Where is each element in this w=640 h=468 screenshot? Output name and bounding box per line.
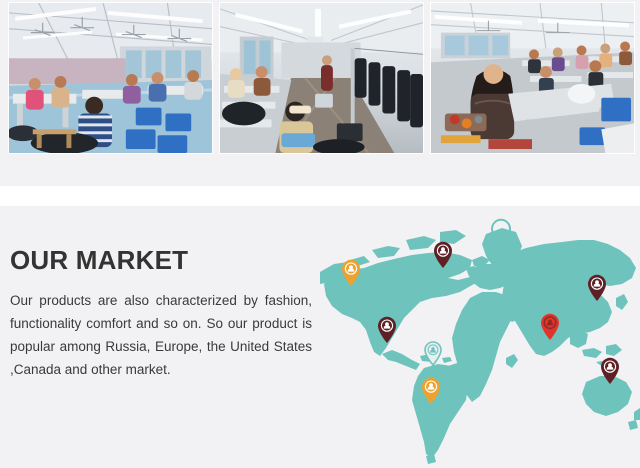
- factory-photo-1[interactable]: [8, 2, 213, 154]
- factory-photo-strip: [0, 0, 640, 186]
- market-text-block: OUR MARKET Our products are also charact…: [10, 246, 312, 381]
- factory-photo-2[interactable]: [219, 2, 424, 154]
- photo-row: [8, 2, 635, 154]
- world-map-svg: [320, 206, 640, 468]
- factory-photo-2-image: [220, 3, 423, 153]
- factory-photo-3[interactable]: [430, 2, 635, 154]
- page-root: OUR MARKET Our products are also charact…: [0, 0, 640, 468]
- market-description: Our products are also characterized by f…: [10, 289, 312, 382]
- our-market-section: OUR MARKET Our products are also charact…: [0, 206, 640, 468]
- world-market-map: [320, 206, 640, 468]
- section-separator: [0, 186, 640, 206]
- page-title: OUR MARKET: [10, 246, 312, 275]
- factory-photo-1-image: [9, 3, 212, 153]
- factory-photo-3-image: [431, 3, 634, 153]
